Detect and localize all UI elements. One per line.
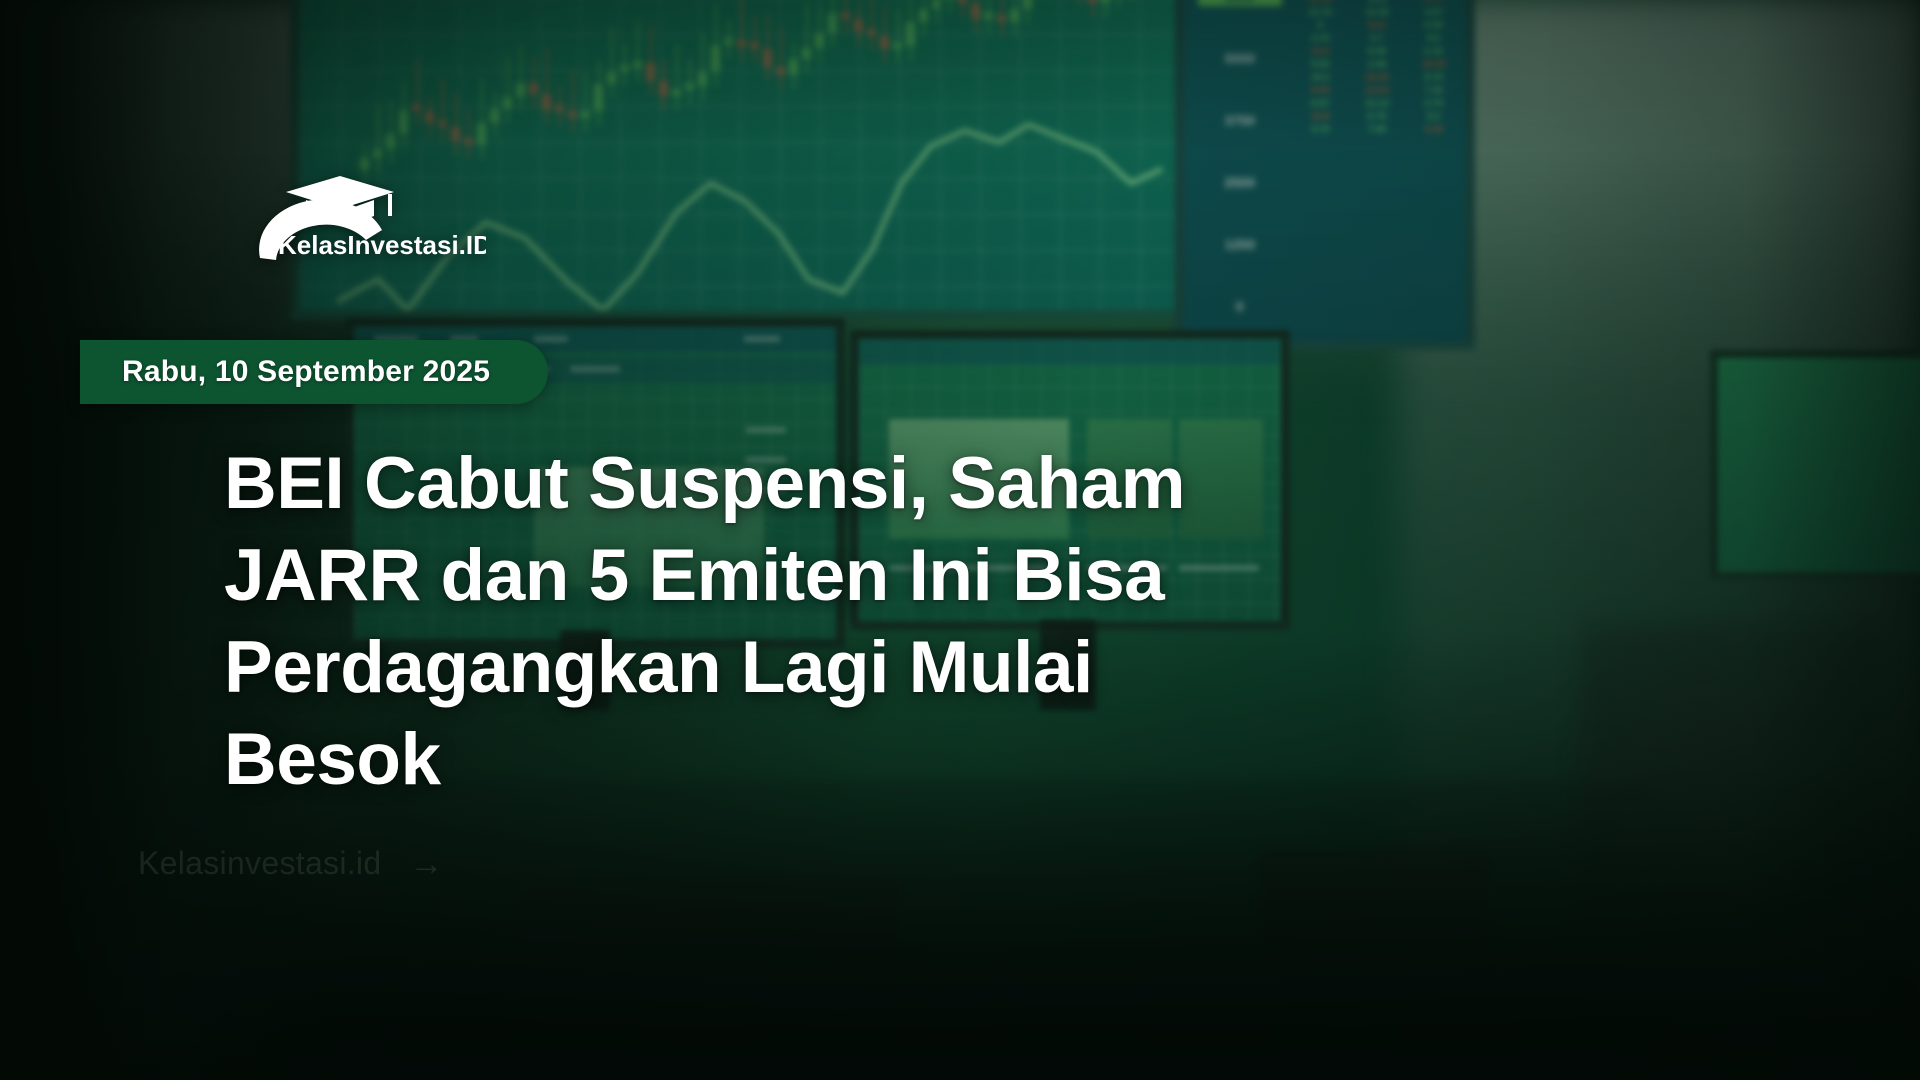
kelasinvestasi-logo[interactable]: KelasInvestasi.ID — [236, 168, 486, 268]
watermark: Kelasinvestasi.id → — [138, 845, 443, 882]
headline-line: Perdagangkan Lagi Mulai — [224, 622, 1324, 714]
headline-line: Besok — [224, 714, 1324, 806]
logo-wordmark: KelasInvestasi.ID — [278, 230, 486, 260]
date-badge-label: Rabu, 10 September 2025 — [122, 355, 490, 389]
watermark-text: Kelasinvestasi.id — [138, 845, 381, 882]
arrow-right-icon: → — [409, 847, 443, 881]
headline-line: JARR dan 5 Emiten Ini Bisa — [224, 530, 1324, 622]
news-card: 7500625050003750250012500 0.9112.185.96.… — [0, 0, 1920, 1080]
date-badge: Rabu, 10 September 2025 — [80, 340, 548, 404]
card-content: KelasInvestasi.ID Rabu, 10 September 202… — [0, 0, 1920, 1080]
headline-line: BEI Cabut Suspensi, Saham — [224, 438, 1324, 530]
page-title: BEI Cabut Suspensi, SahamJARR dan 5 Emit… — [224, 438, 1324, 806]
graduation-cap-icon: KelasInvestasi.ID — [236, 168, 486, 268]
